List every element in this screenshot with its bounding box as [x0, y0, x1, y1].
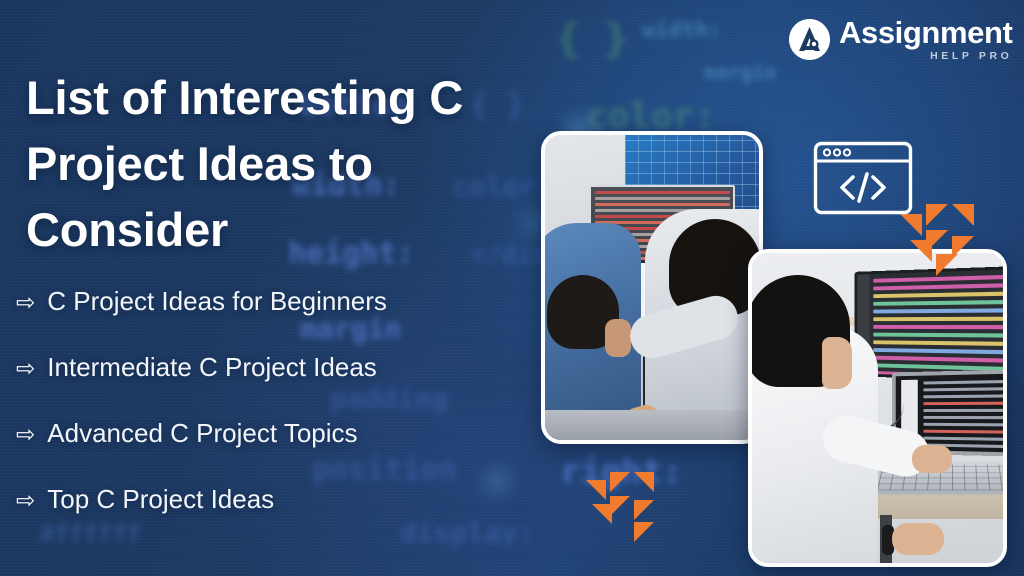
bg-code-line: margin [704, 60, 776, 84]
list-item-label: Advanced C Project Topics [47, 420, 357, 446]
logo-name: Assignment [839, 17, 1012, 48]
list-item-label: Top C Project Ideas [47, 486, 274, 512]
arrow-right-outline-icon: ⇨ [16, 357, 35, 380]
topic-list: ⇨ C Project Ideas for Beginners ⇨ Interm… [16, 288, 536, 552]
list-item-label: Intermediate C Project Ideas [47, 354, 377, 380]
logo-tagline: HELP PRO [839, 51, 1012, 62]
list-item[interactable]: ⇨ Top C Project Ideas [16, 486, 536, 552]
triangle-cluster-left [586, 466, 662, 547]
code-browser-window-icon [813, 141, 913, 215]
list-item[interactable]: ⇨ C Project Ideas for Beginners [16, 288, 536, 354]
banner-graphic: bottom { } width: color: height: </div> … [0, 0, 1024, 576]
list-item-label: C Project Ideas for Beginners [47, 288, 387, 314]
logo-wordmark: Assignment HELP PRO [839, 17, 1012, 62]
list-item[interactable]: ⇨ Advanced C Project Topics [16, 420, 536, 486]
brand-logo[interactable]: Assignment HELP PRO [789, 17, 1012, 62]
page-title: List of Interesting C Project Ideas to C… [26, 65, 586, 262]
arrow-right-outline-icon: ⇨ [16, 291, 35, 314]
photo-content [752, 253, 1003, 563]
photo-developer-laptop: Developer in a white shirt typing on a l… [748, 249, 1007, 567]
bg-code-line: width: [642, 18, 721, 43]
arrow-right-outline-icon: ⇨ [16, 489, 35, 512]
circle-a-monogram-icon [789, 19, 830, 60]
bg-code-line: { } [556, 16, 628, 62]
list-item[interactable]: ⇨ Intermediate C Project Ideas [16, 354, 536, 420]
arrow-right-outline-icon: ⇨ [16, 423, 35, 446]
